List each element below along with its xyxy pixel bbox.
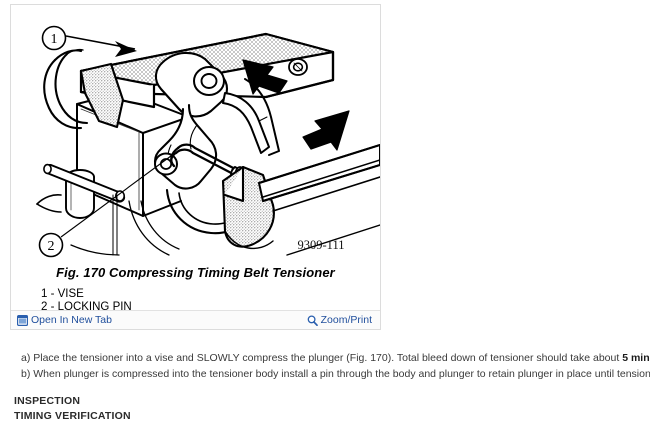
legend-item-1: 1 - VISE [41, 288, 132, 301]
magnifier-icon [307, 315, 318, 326]
procedure-step-a: a) Place the tensioner into a vise and S… [14, 350, 638, 366]
zoom-print-label: Zoom/Print [321, 314, 372, 326]
new-window-icon [17, 315, 28, 326]
procedure-step-b: b) When plunger is compressed into the t… [14, 366, 638, 382]
open-in-new-tab-label: Open In New Tab [31, 314, 112, 326]
section-headings: INSPECTION TIMING VERIFICATION [14, 394, 131, 424]
figure-caption: Fig. 170 Compressing Timing Belt Tension… [11, 265, 380, 280]
zoom-print-link[interactable]: Zoom/Print [307, 314, 372, 326]
figure-part-number: 9309-111 [298, 238, 345, 252]
svg-text:2: 2 [48, 239, 55, 254]
step-a-emphasis: 5 minutes [622, 352, 650, 364]
section-heading-timing-verification: TIMING VERIFICATION [14, 409, 131, 424]
figure-panel: 1 2 9309-111 Fig. 170 Compressing Timing… [10, 4, 381, 330]
step-b-text: b) When plunger is compressed into the t… [21, 368, 650, 380]
timing-belt-tensioner-diagram: 1 2 9309-111 [11, 5, 380, 263]
figure-toolbar: Open In New Tab Zoom/Print [11, 310, 380, 329]
procedure-steps: a) Place the tensioner into a vise and S… [14, 350, 638, 382]
figure-illustration[interactable]: 1 2 9309-111 [11, 5, 380, 263]
section-heading-inspection: INSPECTION [14, 394, 131, 409]
open-in-new-tab-link[interactable]: Open In New Tab [17, 314, 112, 326]
svg-text:1: 1 [51, 32, 58, 47]
step-a-text: a) Place the tensioner into a vise and S… [21, 352, 622, 364]
